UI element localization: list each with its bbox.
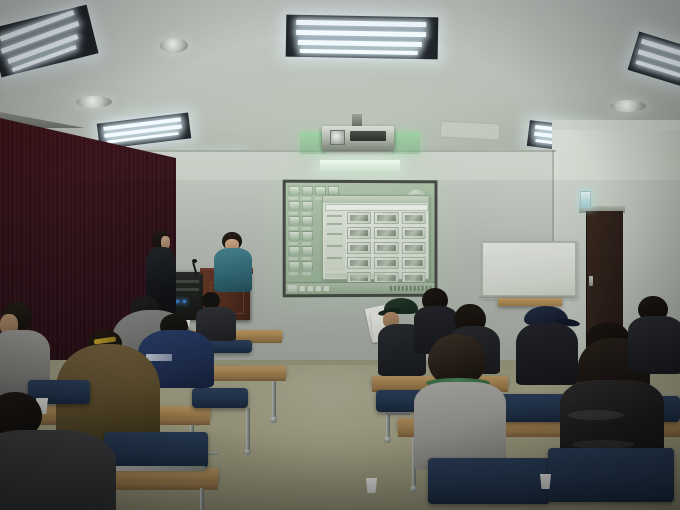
door-handle[interactable] xyxy=(589,276,593,286)
whiteboard xyxy=(481,241,577,299)
thumbnail-item[interactable] xyxy=(401,257,425,269)
thumbnail-item[interactable] xyxy=(347,242,371,254)
lecture-hall-photo xyxy=(0,0,680,510)
projector-green-panel-right xyxy=(392,132,420,154)
desktop-icon[interactable] xyxy=(289,246,298,260)
start-button[interactable] xyxy=(288,285,297,292)
speaker-torso xyxy=(214,248,252,292)
projector-body-detail xyxy=(350,131,386,141)
explorer-sidebar[interactable] xyxy=(325,211,345,271)
ceiling-wall-seam xyxy=(140,150,556,152)
desktop-icon[interactable] xyxy=(302,216,311,230)
puffer-sheen xyxy=(568,410,624,420)
window-title-bar[interactable] xyxy=(323,196,429,203)
desktop-icon[interactable] xyxy=(302,231,311,245)
thumbnail-item[interactable] xyxy=(347,227,371,239)
thumbnail-item[interactable] xyxy=(374,257,398,269)
desktop-icon[interactable] xyxy=(289,231,298,245)
thumbnail-item[interactable] xyxy=(374,227,398,239)
downlight-right xyxy=(610,100,646,112)
thumbnail-item[interactable] xyxy=(347,212,371,224)
projection-screen xyxy=(283,180,438,298)
paper-cup xyxy=(366,478,377,493)
quick-launch-icon[interactable] xyxy=(300,286,305,291)
desktop-icon[interactable] xyxy=(289,186,298,200)
desktop-icon[interactable] xyxy=(289,216,298,230)
chair-left-b-frame xyxy=(106,466,206,471)
status-bar xyxy=(325,273,385,278)
desktop-icon[interactable] xyxy=(289,201,298,215)
chair-left-b[interactable] xyxy=(104,432,208,468)
file-explorer-window[interactable] xyxy=(322,195,430,280)
thumbnail-item[interactable] xyxy=(401,227,425,239)
quick-launch-icon[interactable] xyxy=(316,286,321,291)
projector-lens-icon xyxy=(330,130,345,145)
panel-light-top-right xyxy=(286,15,439,60)
projection-surface xyxy=(286,183,435,295)
thumbnail-item[interactable] xyxy=(347,257,371,269)
desktop-icon[interactable] xyxy=(289,261,298,275)
chair-left-c[interactable] xyxy=(192,388,248,408)
thumbnail-item[interactable] xyxy=(374,212,398,224)
chair-right-d[interactable] xyxy=(548,448,674,502)
av-power-led-icon xyxy=(176,300,179,303)
desktop-icon[interactable] xyxy=(302,246,311,260)
downlight-center xyxy=(160,38,188,53)
table-right-row-3 xyxy=(498,298,562,306)
paper-cup xyxy=(540,474,551,489)
desktop-icon[interactable] xyxy=(302,201,311,215)
taskbar[interactable] xyxy=(286,282,435,295)
attendee-torso xyxy=(414,382,506,470)
attendee-torso xyxy=(0,430,116,510)
desktop-icon[interactable] xyxy=(302,261,311,275)
jacket-logo-text xyxy=(146,354,172,361)
emergency-exit-sign-icon xyxy=(580,191,591,208)
thumbnail-item[interactable] xyxy=(374,242,398,254)
thumbnail-grid[interactable] xyxy=(347,212,426,270)
downlight-left xyxy=(76,96,112,108)
chair-right-b[interactable] xyxy=(428,458,550,504)
quick-launch-icon[interactable] xyxy=(324,286,329,291)
quick-launch-icon[interactable] xyxy=(308,286,313,291)
projector-light-beam xyxy=(320,160,400,174)
flat-fixture-left xyxy=(440,120,501,140)
thumbnail-item[interactable] xyxy=(401,242,425,254)
attendee-torso xyxy=(516,323,578,385)
av-status-led-icon xyxy=(183,300,186,303)
thumbnail-item[interactable] xyxy=(401,212,425,224)
desktop-icon[interactable] xyxy=(302,186,311,200)
